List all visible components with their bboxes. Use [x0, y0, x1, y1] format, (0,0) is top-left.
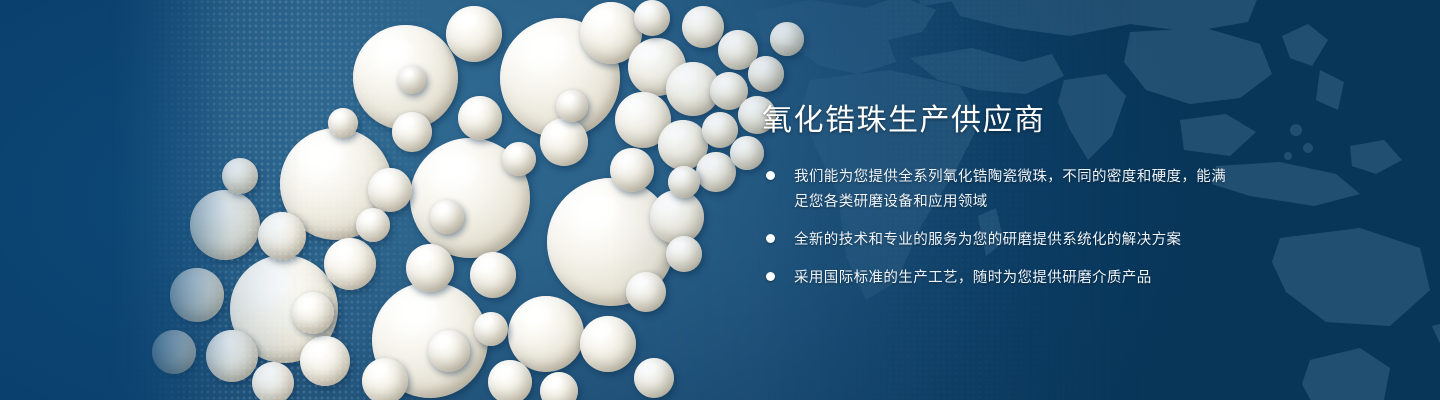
feature-item-3: 采用国际标准的生产工艺，随时为您提供研磨介质产品: [762, 266, 1232, 291]
feature-text-3: 采用国际标准的生产工艺，随时为您提供研磨介质产品: [794, 270, 1152, 286]
bullet-dot-icon: [766, 272, 775, 281]
banner-text-block: 氧化锆珠生产供应商 我们能为您提供全系列氧化锆陶瓷微珠，不同的密度和硬度，能满足…: [762, 104, 1232, 291]
banner-title: 氧化锆珠生产供应商: [762, 104, 1232, 137]
feature-text-1: 我们能为您提供全系列氧化锆陶瓷微珠，不同的密度和硬度，能满足您各类研磨设备和应用…: [794, 169, 1226, 210]
bullet-dot-icon: [766, 234, 775, 243]
bullet-dot-icon: [766, 171, 775, 180]
hero-banner: 氧化锆珠生产供应商 我们能为您提供全系列氧化锆陶瓷微珠，不同的密度和硬度，能满足…: [0, 0, 1440, 400]
banner-feature-list: 我们能为您提供全系列氧化锆陶瓷微珠，不同的密度和硬度，能满足您各类研磨设备和应用…: [762, 165, 1232, 291]
feature-item-2: 全新的技术和专业的服务为您的研磨提供系统化的解决方案: [762, 228, 1232, 253]
feature-item-1: 我们能为您提供全系列氧化锆陶瓷微珠，不同的密度和硬度，能满足您各类研磨设备和应用…: [762, 165, 1232, 215]
halftone-fade-left: [110, 0, 440, 400]
feature-text-2: 全新的技术和专业的服务为您的研磨提供系统化的解决方案: [794, 232, 1181, 248]
